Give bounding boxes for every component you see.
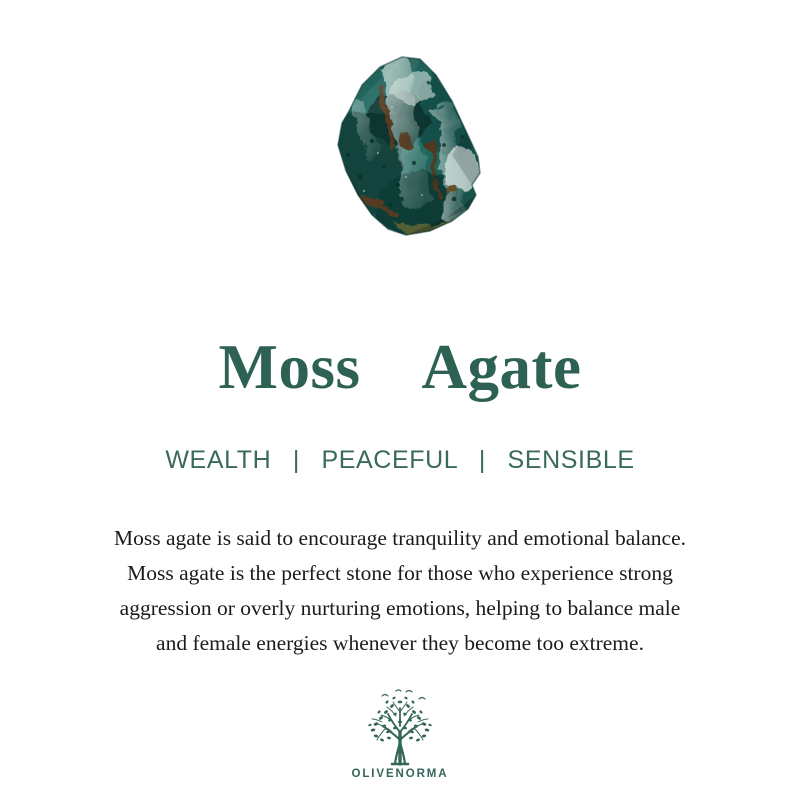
keyword-separator: | bbox=[465, 446, 500, 475]
page-title: Moss Agate bbox=[0, 334, 800, 400]
olive-tree-icon bbox=[362, 688, 438, 766]
keyword-wealth: WEALTH bbox=[165, 446, 271, 474]
keyword-sensible: SENSIBLE bbox=[508, 446, 635, 474]
description-line: Moss agate is said to encourage tranquil… bbox=[40, 521, 760, 556]
keyword-separator: | bbox=[279, 446, 314, 475]
description-line: aggression or overly nurturing emotions,… bbox=[40, 591, 760, 626]
brand-logo: OLIVENORMA bbox=[0, 688, 800, 780]
description-line: and female energies whenever they become… bbox=[40, 626, 760, 661]
moss-agate-info-card: Moss Agate WEALTH | PEACEFUL | SENSIBLE … bbox=[0, 0, 800, 800]
description-paragraph: Moss agate is said to encourage tranquil… bbox=[40, 521, 760, 661]
moss-agate-stone-image bbox=[302, 45, 502, 255]
stone-image-container bbox=[0, 0, 800, 300]
description-line: Moss agate is the perfect stone for thos… bbox=[40, 556, 760, 591]
keyword-list: WEALTH | PEACEFUL | SENSIBLE bbox=[0, 446, 800, 475]
keyword-peaceful: PEACEFUL bbox=[321, 446, 457, 474]
brand-wordmark: OLIVENORMA bbox=[352, 768, 449, 780]
